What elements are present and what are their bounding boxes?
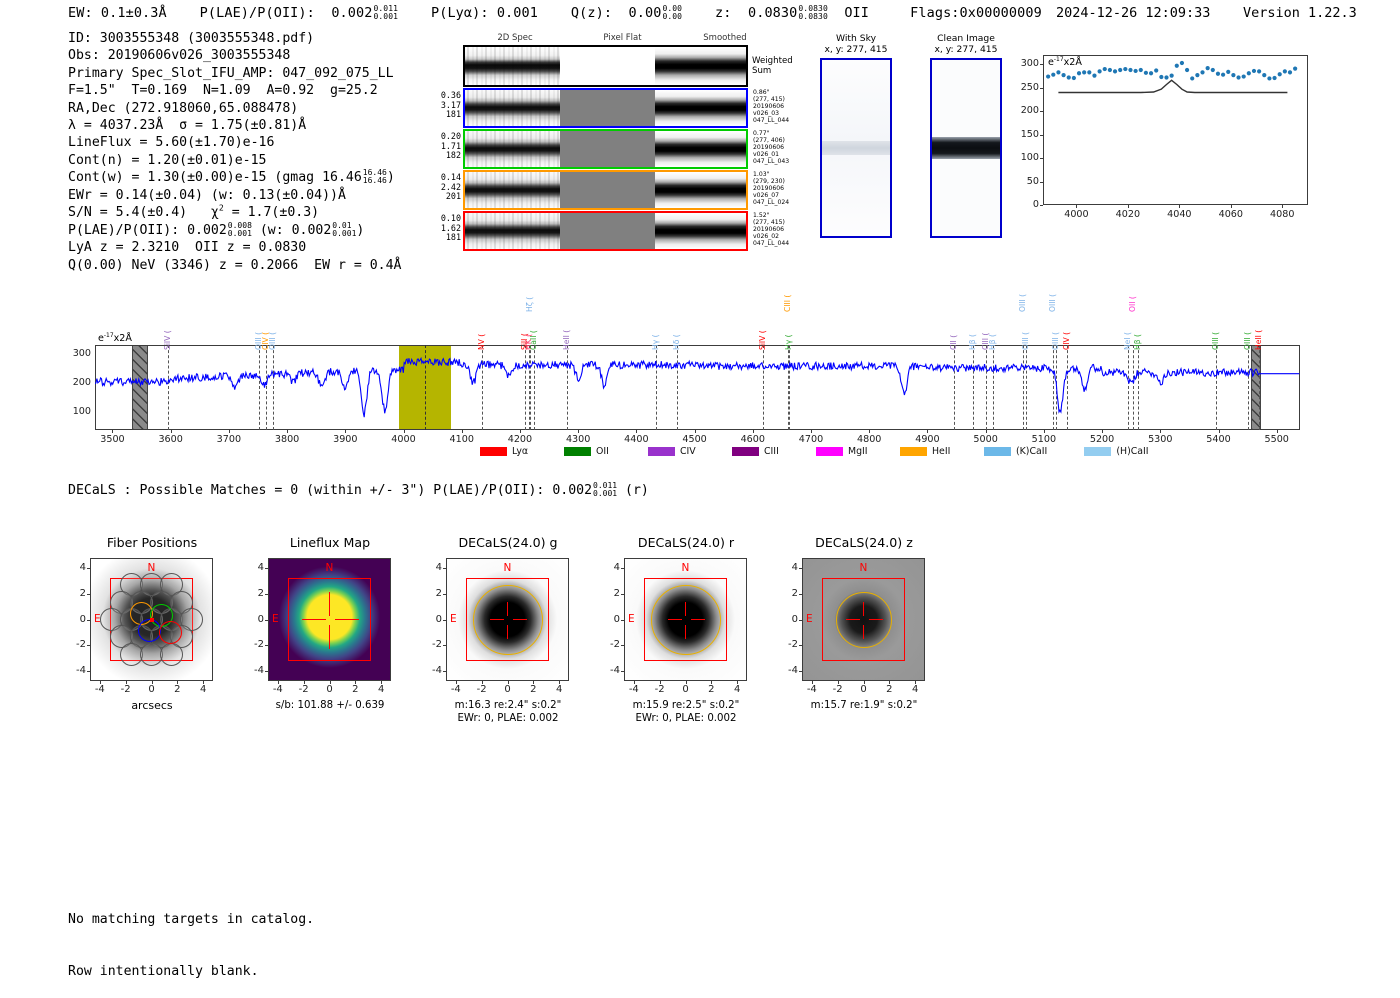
info-line-cont-n: Cont(n) = 1.20(±0.01)e-15 [68,152,401,169]
full-xtick-mark [695,430,696,433]
panel-ytick-3: 4 [600,562,620,573]
panel-ytick-4: -4 [778,665,798,676]
zoom-xtick: 4080 [1262,209,1302,220]
panel-title-4: DECaLS(24.0) z [774,535,954,550]
with-sky-title: With Sky x, y: 277, 415 [808,33,904,55]
legend-swatch-(H)CaII [1084,447,1111,456]
panel-ytick-1: -2 [244,639,264,650]
spec2d-panel-3 [463,211,748,251]
info-line-q: Q(0.00) NeV (3346) z = 0.2066 EW r = 0.4… [68,257,401,274]
panel-xtick-mark-4 [889,681,890,684]
panel-xtick-mark-2 [482,681,483,684]
legend-swatch-(K)CaII [984,447,1011,456]
panel-ytick-0: -4 [66,665,86,676]
full-xtick: 5200 [1078,434,1126,445]
zoom-ytick: 250 [1011,82,1039,93]
legend-swatch-CIII [732,447,759,456]
col-header-smoothed: Smoothed [675,33,775,43]
zoom-xtick: 4020 [1108,209,1148,220]
panel-ytick-mark-3 [621,671,624,672]
spec2d-left-labels-1: 0.201.71182 [439,132,461,161]
info-line-snr: S/N = 5.4(±0.4) χ2 = 1.7(±0.3) [68,204,401,221]
full-xtick: 4400 [612,434,660,445]
full-xtick-mark [1102,430,1103,433]
full-xtick-mark [462,430,463,433]
panel-xtick-mark-0 [100,681,101,684]
panel-ytick-mark-0 [87,620,90,621]
clean-image-title: Clean Image x, y: 277, 415 [918,33,1014,55]
panel-ytick-mark-2 [443,594,446,595]
panel-xtick-2: 0 [494,684,522,695]
spec2d-panel-2 [463,170,748,210]
panel-ytick-3: -4 [600,665,620,676]
panel-xtick-mark-1 [278,681,279,684]
panel-ytick-mark-4 [799,671,802,672]
panel-crosshair-1 [329,592,330,616]
panel-aperture-ellipse-4 [836,592,892,648]
panel-ytick-0: 2 [66,588,86,599]
full-xtick-mark [986,430,987,433]
full-xtick-mark [869,430,870,433]
panel-xtick-mark-0 [126,681,127,684]
panel-xtick-mark-1 [304,681,305,684]
col-header-2dspec: 2D Spec [460,33,570,43]
line-label-CIII: CIII ( [783,295,792,312]
full-xtick: 5000 [962,434,1010,445]
zoom-xtick: 4000 [1056,209,1096,220]
spec2d-left-labels-0: 0.363.17181 [439,91,461,120]
panel-xtick-3: -4 [620,684,648,695]
legend-swatch-HeII [900,447,927,456]
compass-n-0: N [148,562,156,574]
info-line-ewr: EWr = 0.14(±0.04) (w: 0.13(±0.04))Å [68,187,401,204]
compass-e-1: E [272,613,279,625]
panel-xtick-0: 2 [163,684,191,695]
header-summary: EW: 0.1±0.3Å P(LAE)/P(OII): 0.0020.0110.… [68,5,1042,21]
full-xtick-mark [520,430,521,433]
full-xtick: 4900 [903,434,951,445]
line-label-OII: OII ( [1128,296,1137,312]
spec2d-left-labels-2: 0.142.42201 [439,173,461,202]
panel-xtick-mark-0 [152,681,153,684]
zoom-xtick-mark [1282,205,1283,208]
timestamp: 2024-12-26 12:09:33 [1056,5,1210,21]
panel-xtick-3: 2 [697,684,725,695]
panel-xtick-mark-2 [508,681,509,684]
panel-xtick-2: 2 [519,684,547,695]
compass-n-2: N [504,562,512,574]
panel-ytick-2: 0 [422,614,442,625]
panel-xtick-4: -4 [798,684,826,695]
full-xtick-mark [345,430,346,433]
panel-xtick-4: 0 [850,684,878,695]
spec2d-right-labels-0: 0.86"(277, 415)20190606v026_03047_LL_044 [753,89,805,124]
panel-aperture-ellipse-2 [473,585,543,655]
header-z-label: z: [715,5,731,21]
full-xtick: 5400 [1195,434,1243,445]
panel-ytick-3: 2 [600,588,620,599]
panel-ytick-mark-1 [265,594,268,595]
zoom-xtick-mark [1231,205,1232,208]
panel-xtick-4: 4 [901,684,929,695]
panel-xtick-3: -2 [646,684,674,695]
info-line-seeing: F=1.5" T=0.169 N=1.09 A=0.92 g=25.2 [68,82,401,99]
compass-e-3: E [628,613,635,625]
panel-title-3: DECaLS(24.0) r [596,535,776,550]
full-xtick: 4300 [554,434,602,445]
panel-xtick-4: -2 [824,684,852,695]
compass-n-1: N [326,562,334,574]
clean-image [930,58,1002,238]
info-line-radec: RA,Dec (272.918060,65.088478) [68,100,401,117]
legend-label-MgII: MgII [848,446,868,457]
panel-xtick-mark-3 [634,681,635,684]
panel-ytick-4: 4 [778,562,798,573]
header-flags: Flags:0x00000009 [910,5,1042,21]
full-xtick-mark [753,430,754,433]
info-line-obs: Obs: 20190606v026_3003555348 [68,47,401,64]
panel-xtick-mark-3 [711,681,712,684]
panel-title-1: Lineflux Map [240,535,420,550]
spec2d-panel-0 [463,88,748,128]
compass-e-4: E [806,613,813,625]
full-xtick: 5100 [1020,434,1068,445]
legend-label-(K)CaII: (K)CaII [1016,446,1047,457]
panel-xtick-1: 4 [367,684,395,695]
line-label-OIII: OIII ( [1018,294,1027,312]
panel-ytick-mark-3 [621,620,624,621]
zoom-ytick: 150 [1011,129,1039,140]
spec2d-panel-1 [463,129,748,169]
legend-label-Lyα: Lyα [512,446,528,457]
panel-ytick-mark-4 [799,594,802,595]
spec2d-right-labels-3: 1.52"(277, 415)20190606v026_02047_LL_044 [753,212,805,247]
panel-xtick-mark-1 [355,681,356,684]
panel-title-2: DECaLS(24.0) g [418,535,598,550]
panel-xtick-mark-4 [838,681,839,684]
full-xtick-mark [811,430,812,433]
full-xtick: 3900 [321,434,369,445]
full-xtick-mark [1044,430,1045,433]
full-xtick: 4500 [671,434,719,445]
full-xtick: 3500 [88,434,136,445]
panel-xtick-0: 4 [189,684,217,695]
panel-ytick-mark-0 [87,594,90,595]
panel-ytick-2: -4 [422,665,442,676]
col-header-pixelflat: Pixel Flat [570,33,675,43]
panel-xtick-mark-0 [203,681,204,684]
legend-swatch-OII [564,447,591,456]
full-xtick-mark [1160,430,1161,433]
header-plae-label: P(LAE)/P(OII): [200,5,315,21]
panel-xtick-1: -2 [290,684,318,695]
panel-xtick-2: -2 [468,684,496,695]
zoom-ytick: 50 [1011,176,1039,187]
panel-title-0: Fiber Positions [62,535,242,550]
object-info-block: ID: 3003555348 (3003555348.pdf) Obs: 201… [68,30,401,274]
panel-caption1-4: m:15.7 re:1.9" s:0.2" [766,699,962,712]
panel-xtick-mark-3 [737,681,738,684]
panel-xtick-0: -4 [86,684,114,695]
panel-ytick-2: 4 [422,562,442,573]
zoom-plot-data [1043,55,1308,205]
panel-xtick-mark-4 [812,681,813,684]
zoom-xtick-mark [1128,205,1129,208]
panel-caption1-2: m:16.3 re:2.4" s:0.2" [410,699,606,712]
header-ew: EW: 0.1±0.3Å [68,5,167,21]
spec2d-left-labels-3: 0.101.62181 [439,214,461,243]
fiber-highlight-2 [138,619,161,642]
panel-ytick-1: 0 [244,614,264,625]
panel-xtick-2: 4 [545,684,573,695]
panel-ytick-1: 4 [244,562,264,573]
panel-ytick-mark-1 [265,568,268,569]
panel-xtick-1: 2 [341,684,369,695]
panel-xtick-1: 0 [316,684,344,695]
with-sky-image [820,58,892,238]
line-label-Hζ: Hζ ( [525,297,534,312]
full-spectrum-trace [95,345,1300,430]
panel-crosshair-1 [302,619,326,620]
full-ytick: 100 [59,406,91,417]
full-xtick: 3700 [205,434,253,445]
panel-ytick-mark-1 [265,620,268,621]
full-ytick: 300 [59,348,91,359]
full-xtick-mark [927,430,928,433]
legend-swatch-MgII [816,447,843,456]
panel-xtick-mark-3 [686,681,687,684]
panel-ytick-mark-2 [443,568,446,569]
panel-ytick-mark-2 [443,620,446,621]
zoom-ytick-mark [1040,205,1043,206]
full-xtick: 4100 [438,434,486,445]
panel-xtick-mark-2 [533,681,534,684]
full-xtick-mark [171,430,172,433]
compass-n-4: N [860,562,868,574]
fiber-highlight-3 [159,621,182,644]
panel-ytick-0: 4 [66,562,86,573]
panel-xtick-mark-1 [381,681,382,684]
panel-ytick-mark-2 [443,645,446,646]
full-xtick-mark [287,430,288,433]
legend-label-(H)CaII: (H)CaII [1116,446,1148,457]
zoom-ytick: 100 [1011,152,1039,163]
panel-xtick-mark-2 [456,681,457,684]
panel-xtick-3: 4 [723,684,751,695]
header-qz-label: Q(z): [571,5,612,21]
panel-ytick-4: 2 [778,588,798,599]
panel-ytick-mark-2 [443,671,446,672]
legend-label-HeII: HeII [932,446,950,457]
header-plae-value: 0.002 [331,5,372,21]
full-spectrum-units: e-17x2Å [98,333,132,344]
compass-n-3: N [682,562,690,574]
footer-line-1: No matching targets in catalog. [68,911,314,928]
panel-ytick-mark-4 [799,645,802,646]
full-xtick: 4700 [787,434,835,445]
version-label: Version 1.22.3 [1243,5,1357,21]
panel-caption2-3: EWr: 0, PLAE: 0.002 [588,712,784,725]
decals-headline: DECaLS : Possible Matches = 0 (within +/… [68,482,649,498]
full-xtick: 3600 [147,434,195,445]
panel-ytick-mark-0 [87,671,90,672]
panel-caption1-3: m:15.9 re:2.5" s:0.2" [588,699,784,712]
full-xtick-mark [229,430,230,433]
zoom-xtick: 4060 [1211,209,1251,220]
info-line-cont-w: Cont(w) = 1.30(±0.00)e-15 (gmag 16.4616.… [68,169,401,187]
full-xtick-mark [112,430,113,433]
panel-xtick-mark-1 [330,681,331,684]
full-xtick: 4600 [729,434,777,445]
full-xtick: 3800 [263,434,311,445]
panel-ytick-mark-0 [87,568,90,569]
panel-ytick-0: -2 [66,639,86,650]
panel-ytick-4: -2 [778,639,798,650]
panel-caption2-2: EWr: 0, PLAE: 0.002 [410,712,606,725]
panel-ytick-mark-4 [799,568,802,569]
panel-xtick-mark-3 [660,681,661,684]
footer-note: No matching targets in catalog. Row inte… [68,876,314,998]
zoom-ytick: 200 [1011,105,1039,116]
panel-ytick-3: -2 [600,639,620,650]
panel-xtick-0: -2 [112,684,140,695]
fiber-center-marker [150,618,154,622]
full-xtick: 5500 [1253,434,1301,445]
header-z-value: 0.0830 [748,5,797,21]
panel-ytick-mark-3 [621,568,624,569]
panel-xtick-2: -4 [442,684,470,695]
panel-ytick-mark-1 [265,671,268,672]
header-plya: P(Lyα): 0.001 [431,5,538,21]
info-line-wavelength: λ = 4037.23Å σ = 1.75(±0.81)Å [68,117,401,134]
panel-xtick-mark-2 [559,681,560,684]
panel-ytick-mark-3 [621,594,624,595]
panel-xtick-3: 0 [672,684,700,695]
panel-crosshair-1 [329,625,330,649]
panel-ytick-mark-3 [621,645,624,646]
panel-xtick-0: 0 [138,684,166,695]
panel-xtick-mark-4 [915,681,916,684]
panel-xtick-1: -4 [264,684,292,695]
zoom-xtick-mark [1179,205,1180,208]
zoom-ytick: 0 [1011,199,1039,210]
legend-label-CIV: CIV [680,446,696,457]
zoom-xtick: 4040 [1159,209,1199,220]
info-line-plae: P(LAE)/P(OII): 0.0020.0080.001 (w: 0.002… [68,222,401,240]
panel-ytick-1: -4 [244,665,264,676]
panel-caption1-1: s/b: 101.88 +/- 0.639 [232,699,428,712]
full-xtick-mark [404,430,405,433]
panel-ytick-3: 0 [600,614,620,625]
panel-ytick-4: 0 [778,614,798,625]
full-xtick: 4800 [845,434,893,445]
full-xtick: 5300 [1136,434,1184,445]
panel-xtick-mark-0 [177,681,178,684]
line-label-OIII: OIII ( [1048,294,1057,312]
zoom-ytick: 300 [1011,58,1039,69]
spec2d-right-labels-1: 0.77"(277, 406)20190606v026_01047_LL_043 [753,130,805,165]
full-xtick: 4000 [380,434,428,445]
legend-swatch-CIV [648,447,675,456]
full-xtick-mark [636,430,637,433]
legend-label-OII: OII [596,446,609,457]
panel-ytick-mark-4 [799,620,802,621]
panel-ytick-mark-0 [87,645,90,646]
weighted-sum-panel [463,45,748,87]
legend-swatch-Lyα [480,447,507,456]
info-line-primary-slot: Primary Spec_Slot_IFU_AMP: 047_092_075_L… [68,65,401,82]
full-xtick-mark [1219,430,1220,433]
weighted-sum-label: WeightedSum [752,56,793,76]
compass-e-2: E [450,613,457,625]
panel-aperture-ellipse-3 [651,585,721,655]
panel-ytick-mark-1 [265,645,268,646]
panel-xlabel-0: arcsecs [62,699,242,712]
panel-ytick-2: -2 [422,639,442,650]
panel-ytick-1: 2 [244,588,264,599]
panel-xtick-mark-4 [864,681,865,684]
info-line-id: ID: 3003555348 (3003555348.pdf) [68,30,401,47]
panel-ytick-2: 2 [422,588,442,599]
panel-xtick-4: 2 [875,684,903,695]
header-timestamp-version: 2024-12-26 12:09:33 Version 1.22.3 [1056,5,1357,21]
header-z-species: OII [844,5,869,21]
fiber-circle [160,643,183,666]
panel-crosshair-1 [335,619,359,620]
full-ytick: 200 [59,377,91,388]
legend-label-CIII: CIII [764,446,779,457]
full-xtick: 4200 [496,434,544,445]
full-xtick-mark [1277,430,1278,433]
spec2d-right-labels-2: 1.03"(279, 230)20190606v026_07047_LL_024 [753,171,805,206]
info-line-lineflux: LineFlux = 5.60(±1.70)e-16 [68,134,401,151]
info-line-redshifts: LyA z = 2.3210 OII z = 0.0830 [68,239,401,256]
zoom-xtick-mark [1076,205,1077,208]
footer-line-2: Row intentionally blank. [68,963,314,980]
header-qz-value: 0.00 [629,5,662,21]
panel-ytick-0: 0 [66,614,86,625]
full-xtick-mark [578,430,579,433]
